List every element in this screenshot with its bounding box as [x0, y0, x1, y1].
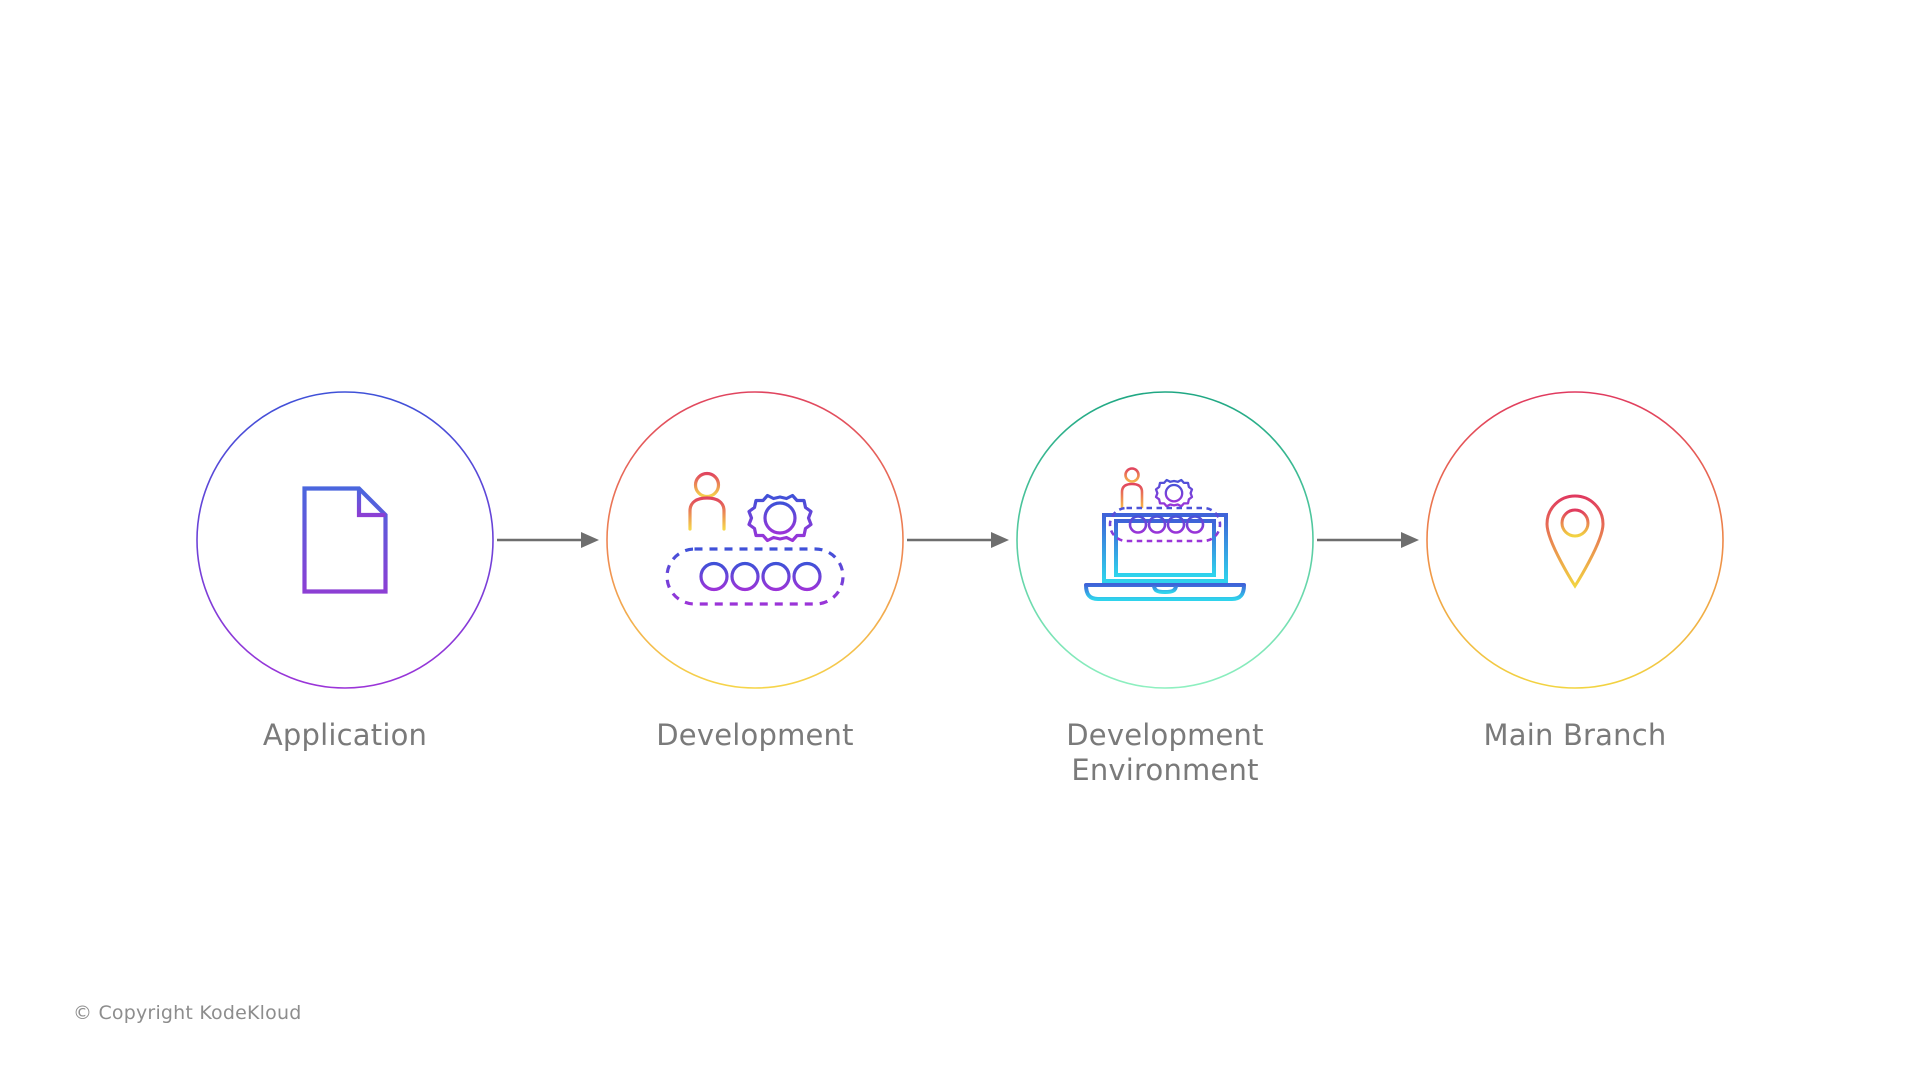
conveyor-worker-gear-icon [605, 390, 905, 690]
document-icon [195, 390, 495, 690]
node-label-main-branch: Main Branch [1484, 718, 1667, 753]
copyright-notice: © Copyright KodeKloud [73, 1002, 301, 1024]
node-circle-application [195, 390, 495, 690]
diagram-canvas: Application [0, 0, 1920, 1080]
flow-node-application[interactable]: Application [195, 390, 495, 753]
node-circle-main-branch [1425, 390, 1725, 690]
node-circle-development [605, 390, 905, 690]
map-pin-icon [1425, 390, 1725, 690]
flow-node-development[interactable]: Development [605, 390, 905, 753]
connector-arrow-2 [905, 390, 1015, 690]
node-label-application: Application [263, 718, 427, 753]
laptop-devops-icon [1015, 390, 1315, 690]
connector-arrow-1 [495, 390, 605, 690]
node-label-development-environment: Development Environment [1066, 718, 1263, 789]
flow-row: Application [0, 390, 1920, 789]
flow-node-main-branch[interactable]: Main Branch [1425, 390, 1725, 753]
connector-arrow-3 [1315, 390, 1425, 690]
node-circle-development-environment [1015, 390, 1315, 690]
flow-node-development-environment[interactable]: Development Environment [1015, 390, 1315, 789]
node-label-development: Development [656, 718, 853, 753]
